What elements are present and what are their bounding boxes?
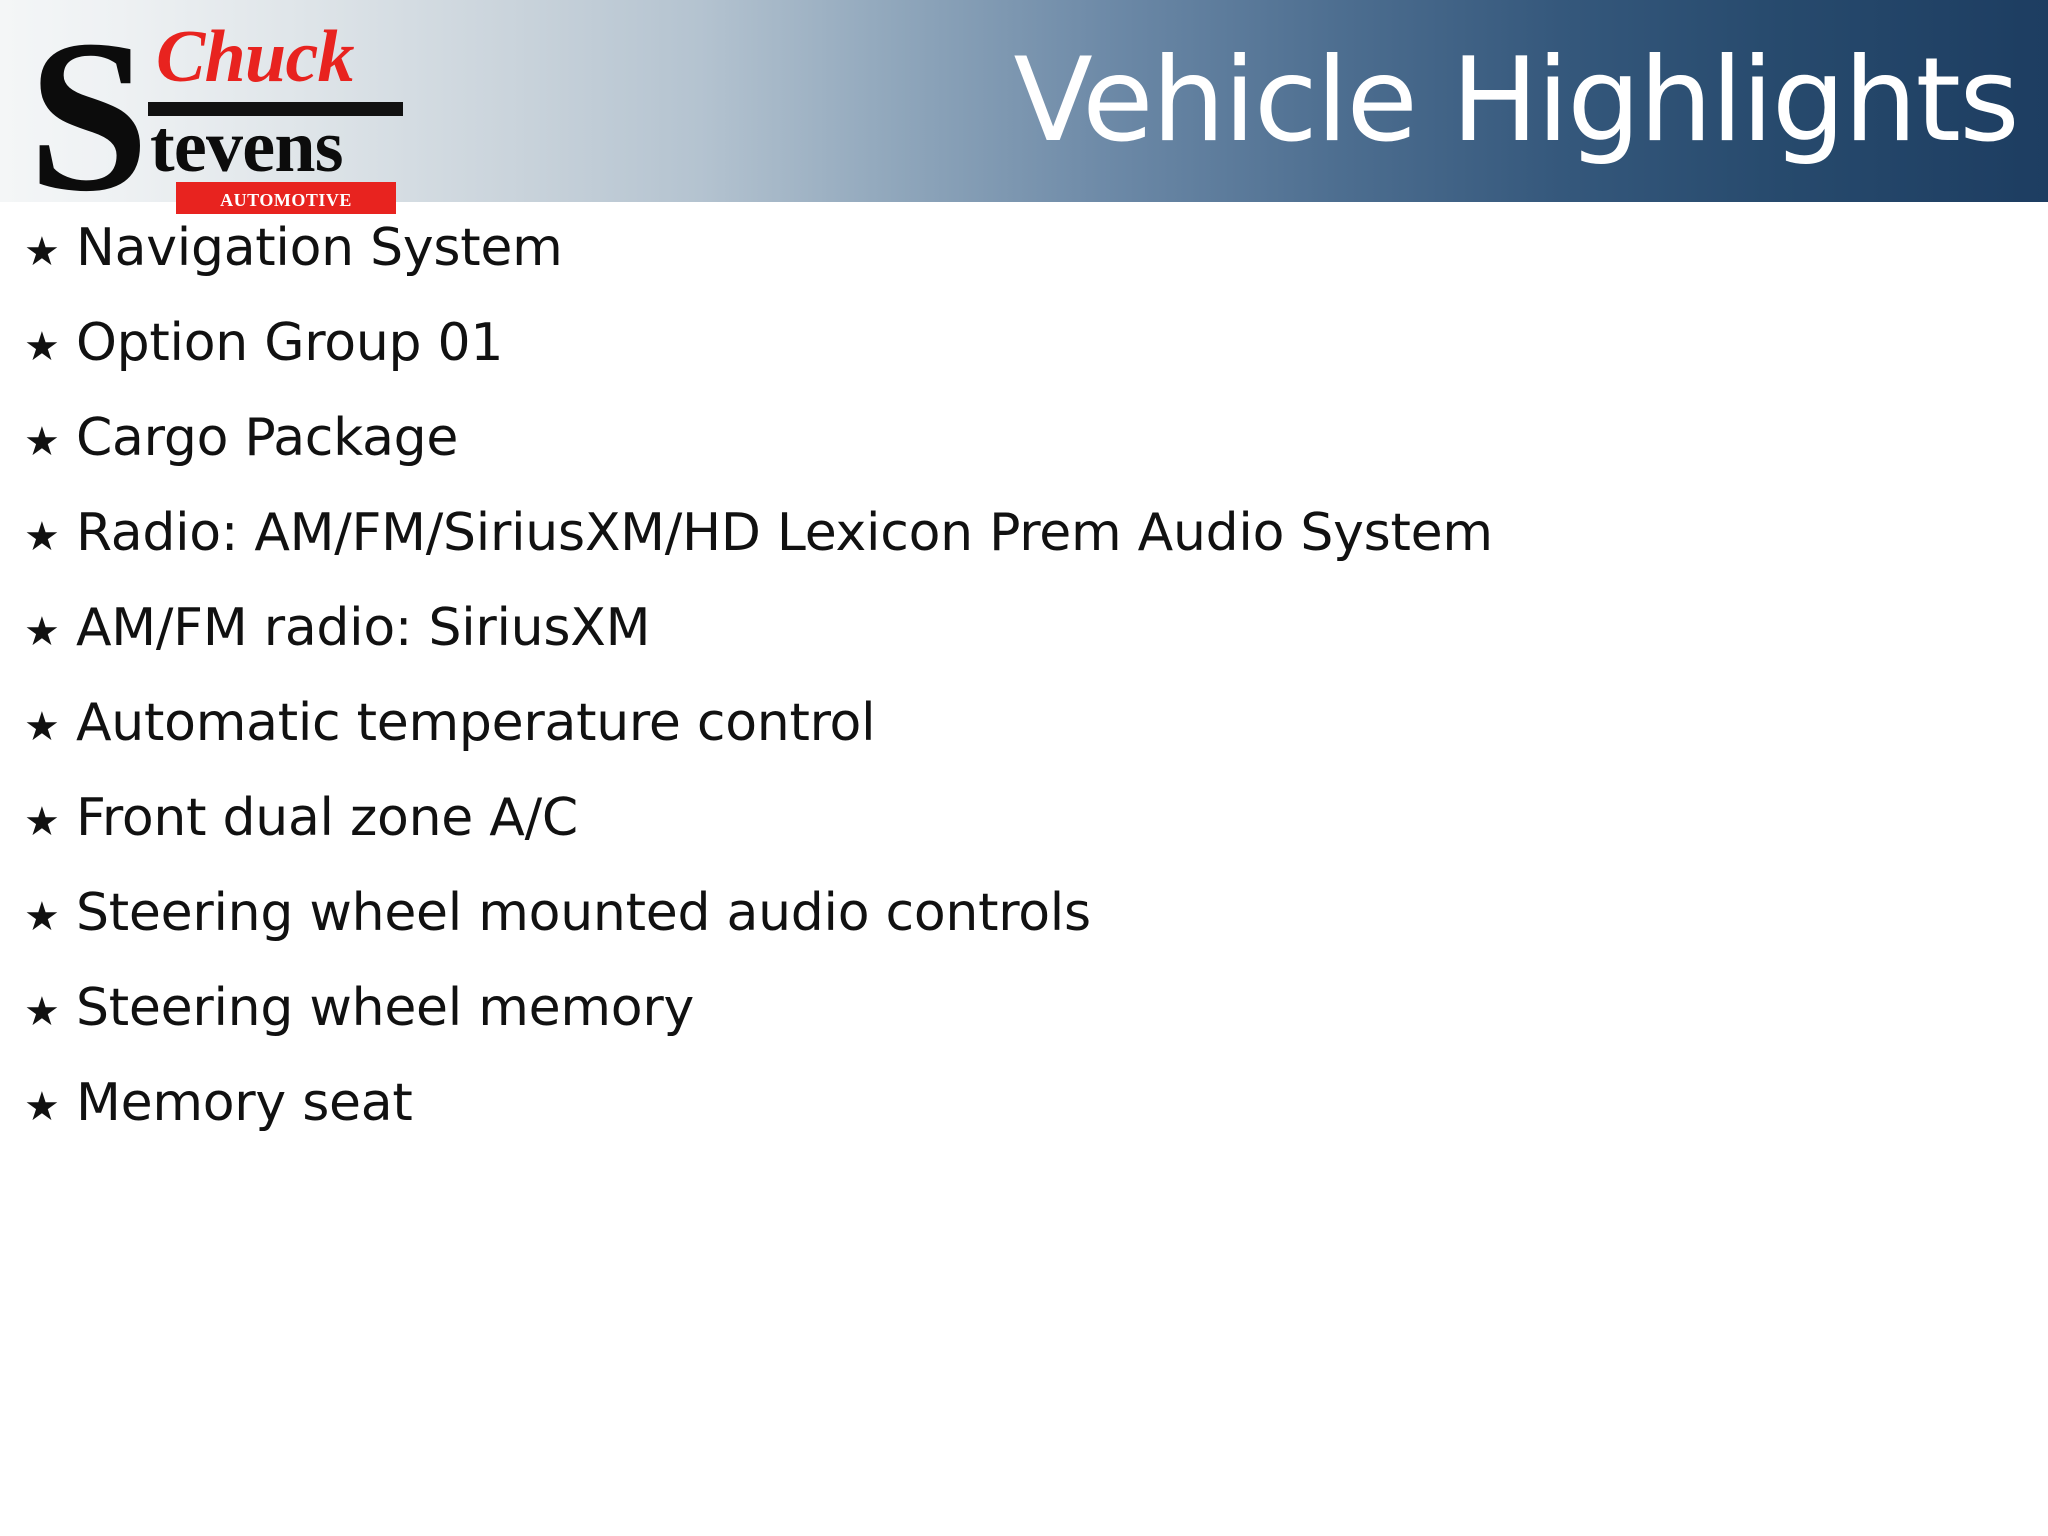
- list-item: ★Radio: AM/FM/SiriusXM/HD Lexicon Prem A…: [0, 507, 2048, 602]
- list-item: ★Option Group 01: [0, 317, 2048, 412]
- list-item: ★Steering wheel memory: [0, 982, 2048, 1077]
- list-item: ★Steering wheel mounted audio controls: [0, 887, 2048, 982]
- page-title-text: Vehicle Highlights: [1013, 43, 2018, 159]
- list-item: ★Navigation System: [0, 202, 2048, 317]
- vehicle-highlights-list: ★Navigation System★Option Group 01★Cargo…: [0, 202, 2048, 1172]
- list-item: ★Cargo Package: [0, 412, 2048, 507]
- list-item: ★Memory seat: [0, 1077, 2048, 1172]
- star-bullet-icon: ★: [24, 1087, 76, 1127]
- star-bullet-icon: ★: [24, 707, 76, 747]
- highlight-label: Cargo Package: [76, 412, 458, 464]
- highlight-label: Memory seat: [76, 1077, 413, 1129]
- list-item: ★AM/FM radio: SiriusXM: [0, 602, 2048, 697]
- star-bullet-icon: ★: [24, 897, 76, 937]
- highlight-label: Automatic temperature control: [76, 697, 875, 749]
- star-bullet-icon: ★: [24, 327, 76, 367]
- highlight-label: Radio: AM/FM/SiriusXM/HD Lexicon Prem Au…: [76, 507, 1493, 559]
- star-bullet-icon: ★: [24, 422, 76, 462]
- star-bullet-icon: ★: [24, 517, 76, 557]
- list-item: ★Front dual zone A/C: [0, 792, 2048, 887]
- highlight-label: Navigation System: [76, 222, 562, 274]
- star-bullet-icon: ★: [24, 612, 76, 652]
- star-bullet-icon: ★: [24, 232, 76, 272]
- page-header: S Chuck tevens Automotive Vehicle Highli…: [0, 0, 2048, 202]
- highlight-label: AM/FM radio: SiriusXM: [76, 602, 650, 654]
- star-bullet-icon: ★: [24, 802, 76, 842]
- highlight-label: Front dual zone A/C: [76, 792, 578, 844]
- highlight-label: Steering wheel memory: [76, 982, 694, 1034]
- list-item: ★Automatic temperature control: [0, 697, 2048, 792]
- page-title: Vehicle Highlights: [0, 0, 2048, 202]
- star-bullet-icon: ★: [24, 992, 76, 1032]
- highlight-label: Steering wheel mounted audio controls: [76, 887, 1091, 939]
- highlight-label: Option Group 01: [76, 317, 503, 369]
